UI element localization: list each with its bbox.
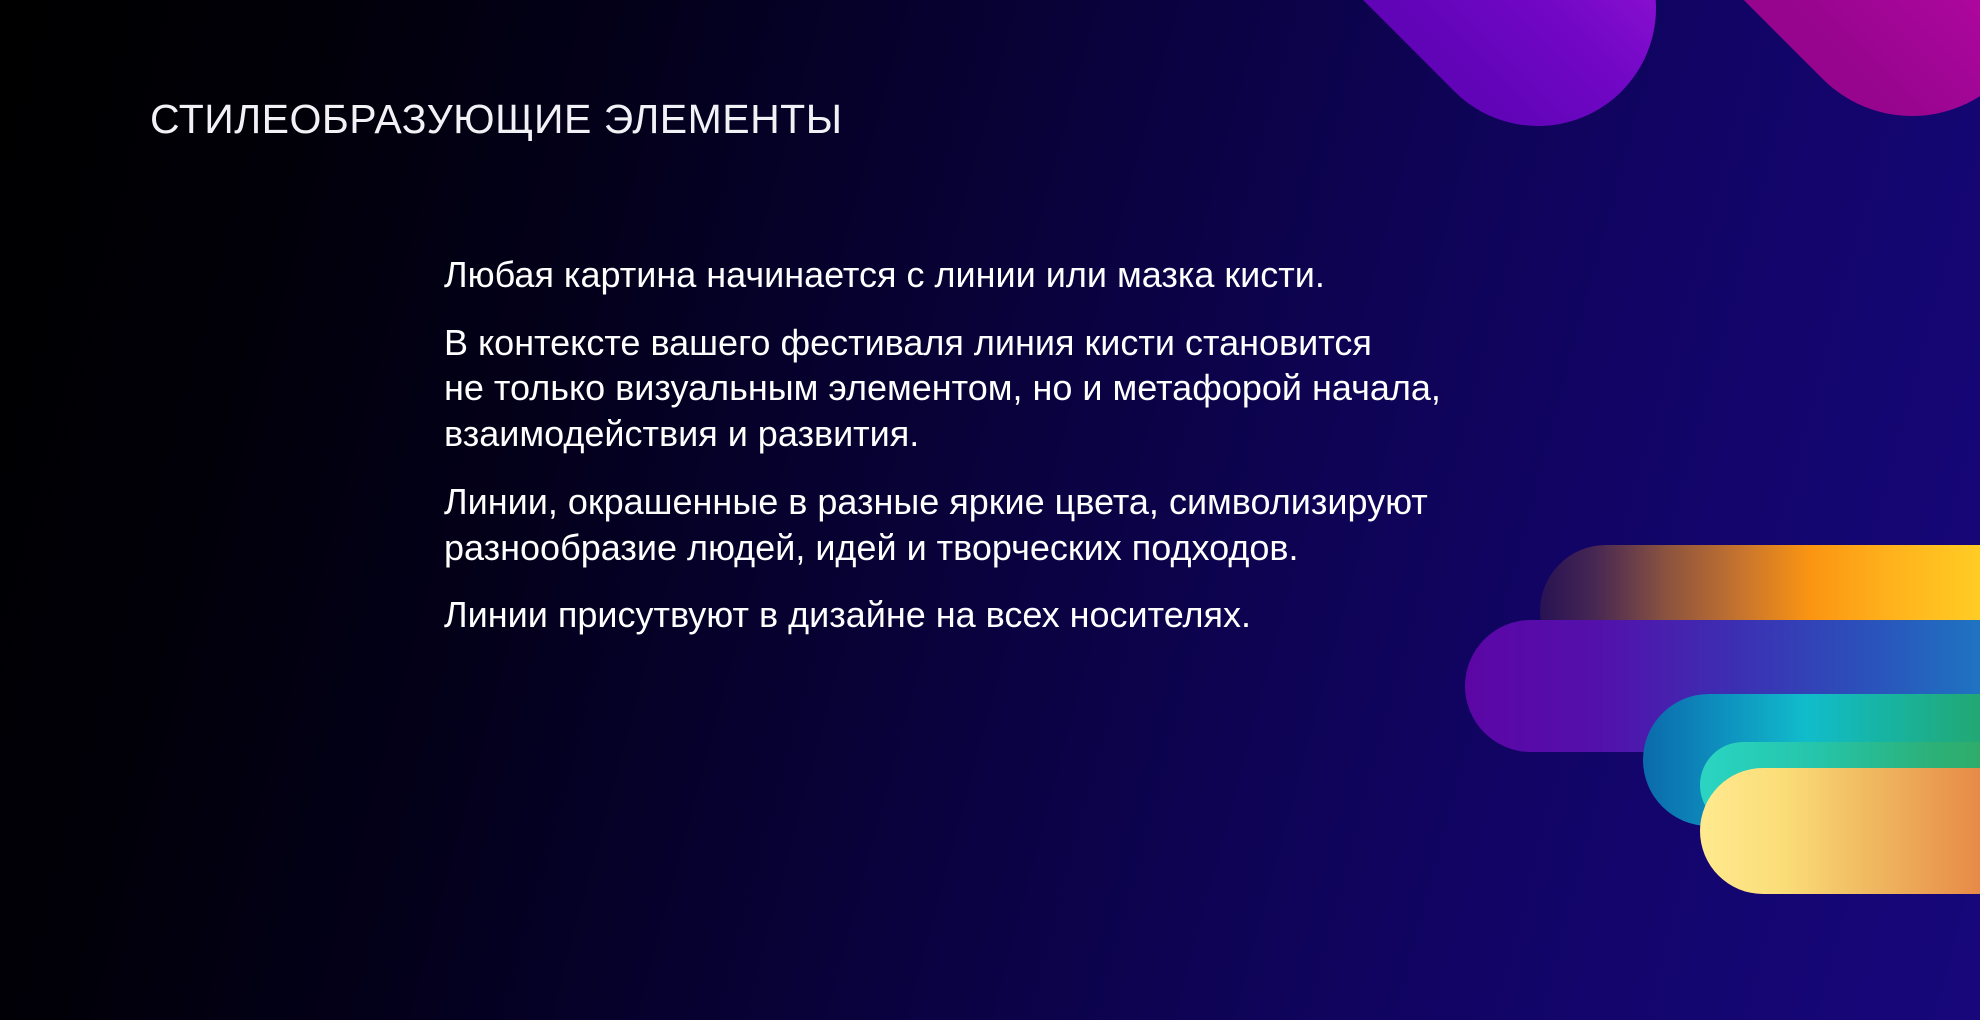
ribbon-cyan-green (1643, 694, 1980, 826)
body-line: Линии присутвуют в дизайне на всех носит… (444, 592, 1614, 638)
slide-title: СТИЛЕОБРАЗУЮЩИЕ ЭЛЕМЕНТЫ (150, 96, 843, 143)
body-line: В контексте вашего фестиваля линия кисти… (444, 320, 1614, 366)
ribbon-yellow-red (1700, 768, 1980, 894)
body-paragraph-1: Любая картина начинается с линии или маз… (444, 252, 1614, 298)
body-paragraph-2: В контексте вашего фестиваля линия кисти… (444, 320, 1614, 457)
body-paragraph-4: Линии присутвуют в дизайне на всех носит… (444, 592, 1614, 638)
slide-body: Любая картина начинается с линии или маз… (444, 252, 1614, 638)
body-line: Любая картина начинается с линии или маз… (444, 252, 1614, 298)
presentation-slide: СТИЛЕОБРАЗУЮЩИЕ ЭЛЕМЕНТЫ Любая картина н… (0, 0, 1980, 1020)
body-line: взаимодействия и развития. (444, 411, 1614, 457)
body-line: не только визуальным элементом, но и мет… (444, 365, 1614, 411)
body-paragraph-3: Линии, окрашенные в разные яркие цвета, … (444, 479, 1614, 570)
brush-stroke-violet (1400, 0, 1538, 8)
body-line: Линии, окрашенные в разные яркие цвета, … (444, 479, 1614, 525)
ribbon-teal-green-thin (1700, 742, 1980, 828)
body-line: разнообразие людей, идей и творческих по… (444, 525, 1614, 571)
ribbon-purple-blue (1465, 620, 1980, 752)
